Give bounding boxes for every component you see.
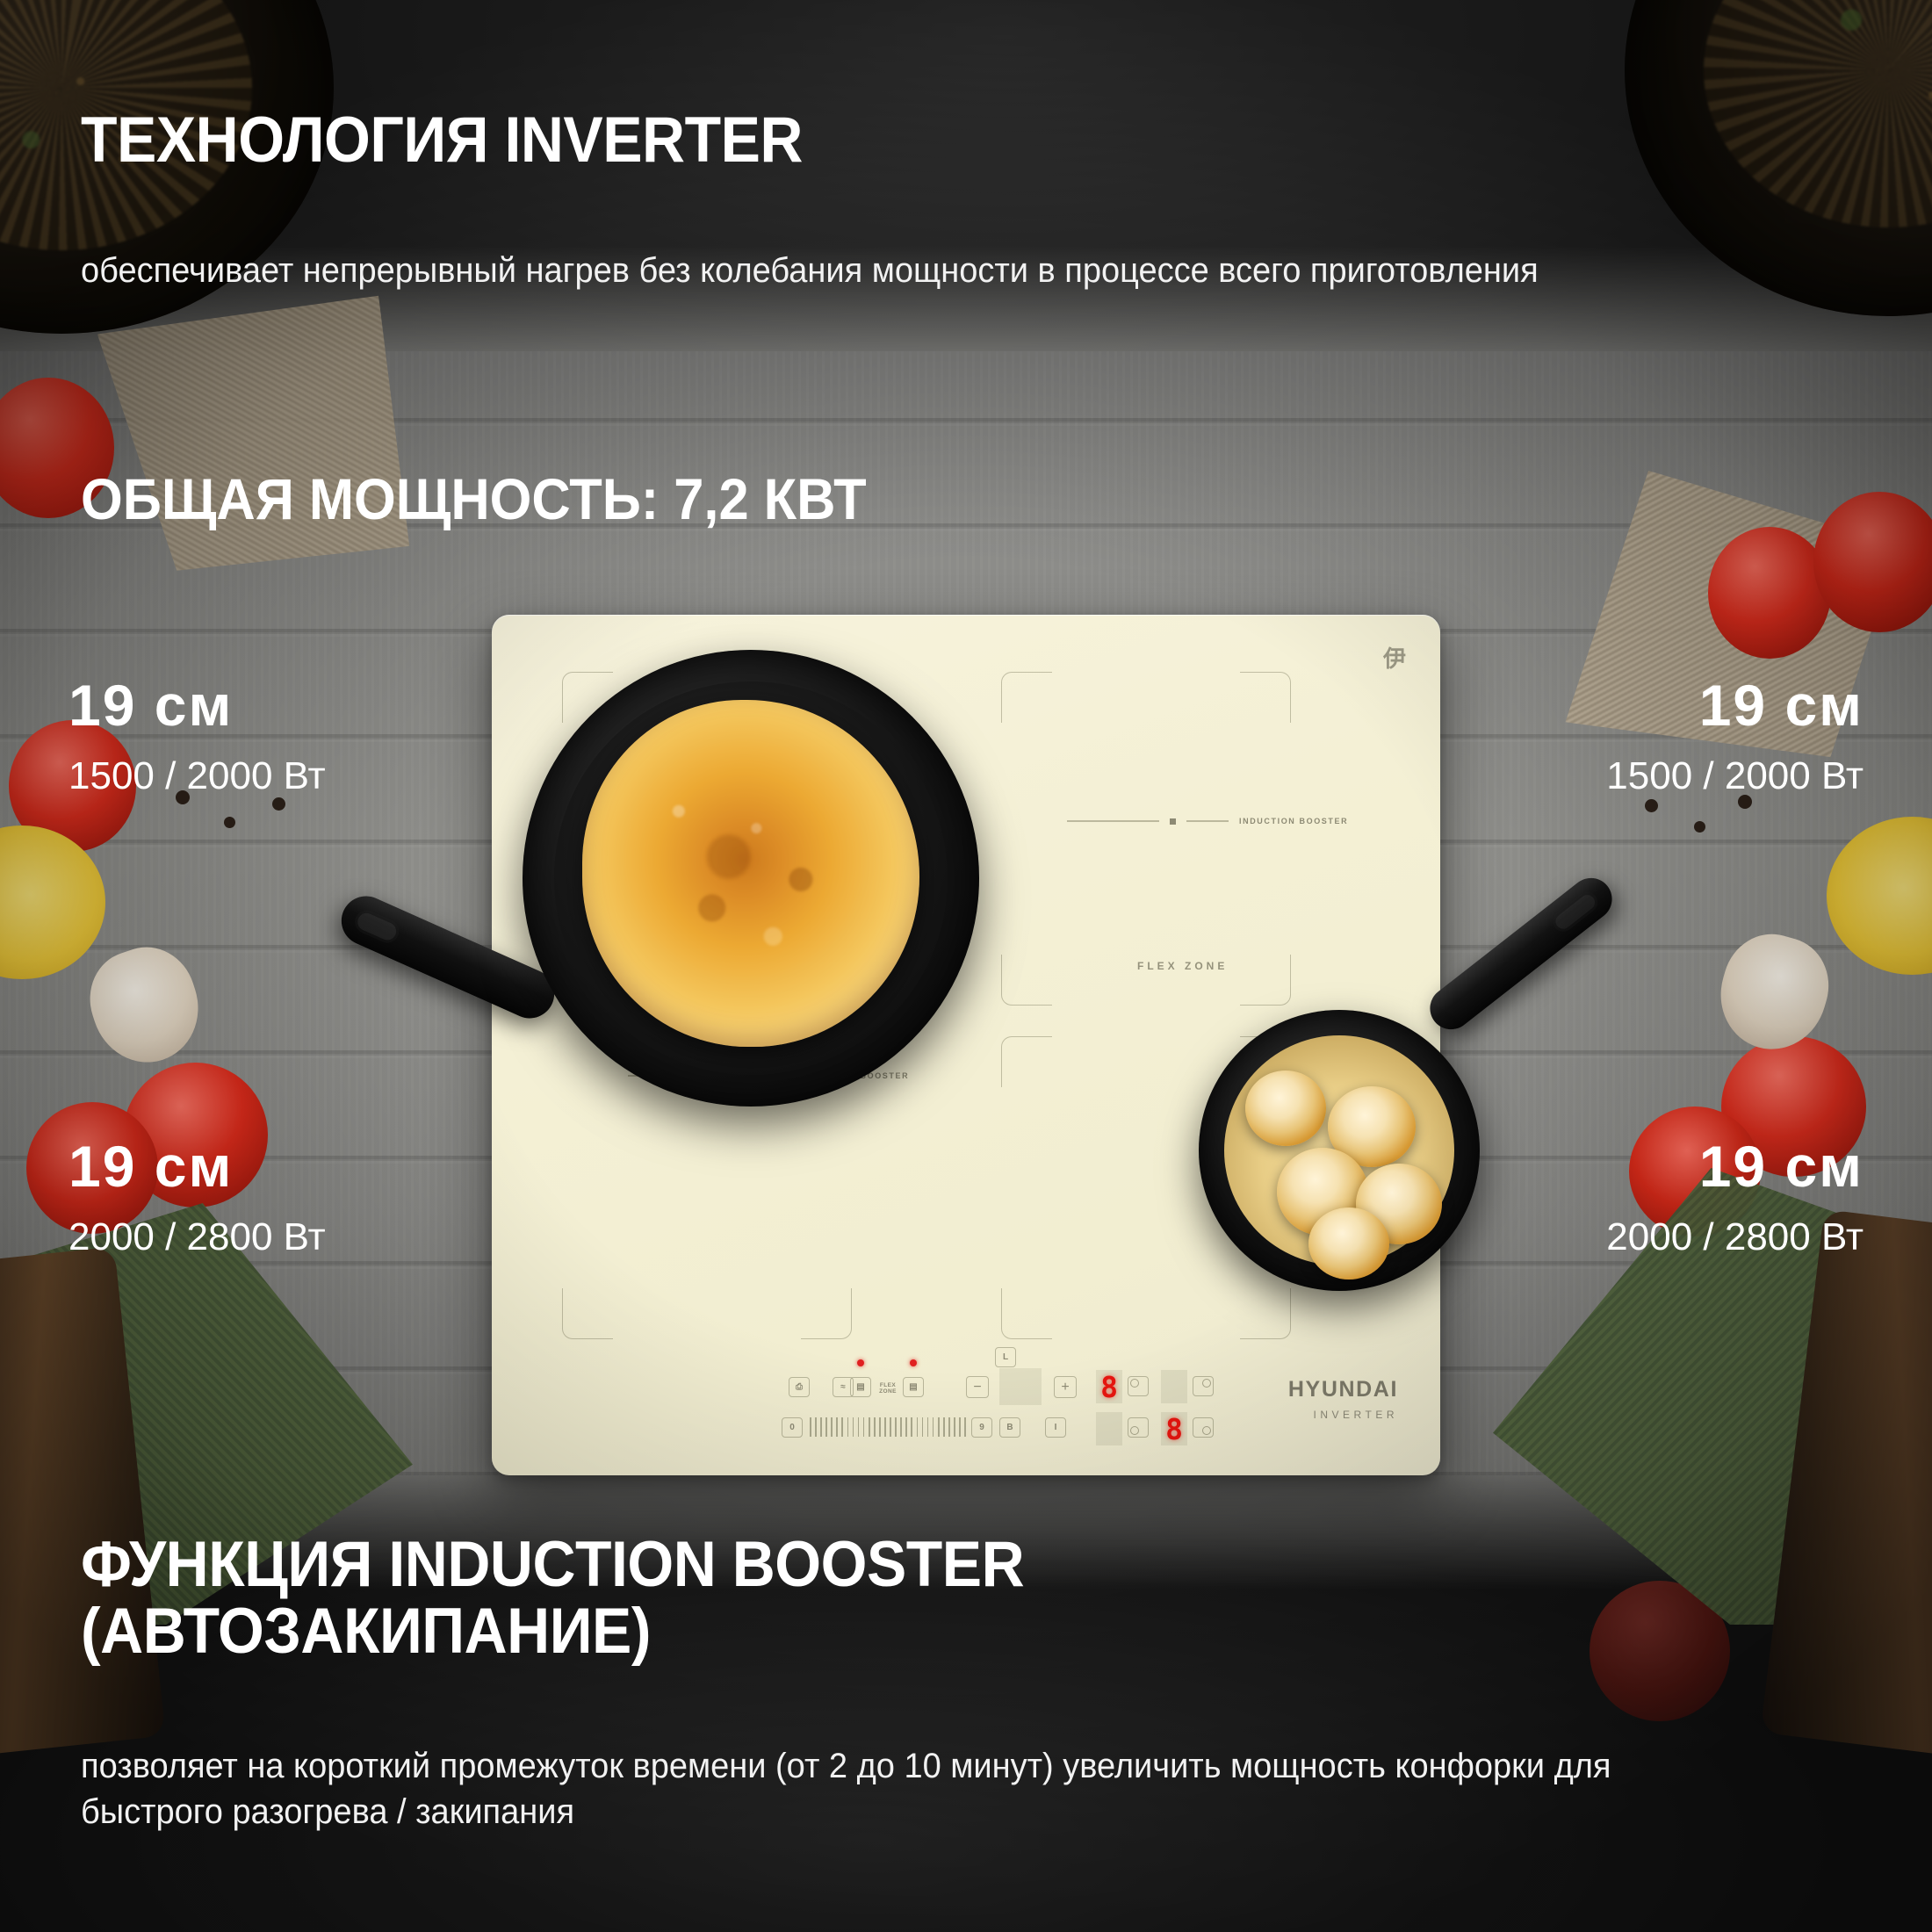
burner-size: 19 см (1606, 676, 1864, 734)
page-title: ТЕХНОЛОГИЯ INVERTER (81, 107, 803, 174)
burner-spec-top-right: 19 см 1500 / 2000 Вт (1606, 676, 1864, 796)
footer-title: ФУНКЦИЯ INDUCTION BOOSTER (АВТОЗАКИПАНИЕ… (81, 1532, 1306, 1665)
burner-spec-bottom-right: 19 см 2000 / 2800 Вт (1606, 1137, 1864, 1257)
burner-power: 2000 / 2800 Вт (68, 1218, 326, 1257)
text-content-layer: ТЕХНОЛОГИЯ INVERTER обеспечивает непреры… (0, 0, 1932, 1932)
burner-power: 2000 / 2800 Вт (1606, 1218, 1864, 1257)
burner-size: 19 см (68, 676, 326, 734)
burner-spec-bottom-left: 19 см 2000 / 2800 Вт (68, 1137, 326, 1257)
page-subtitle: обеспечивает непрерывный нагрев без коле… (81, 248, 1549, 293)
burner-power: 1500 / 2000 Вт (1606, 757, 1864, 796)
burner-spec-top-left: 19 см 1500 / 2000 Вт (68, 676, 326, 796)
poster-stage: 伊 INDUCTION BOOSTER INDUCTION BOOSTER FL… (0, 0, 1932, 1932)
burner-size: 19 см (68, 1137, 326, 1195)
footer-subtitle: позволяет на короткий промежуток времени… (81, 1743, 1716, 1835)
burner-size: 19 см (1606, 1137, 1864, 1195)
burner-power: 1500 / 2000 Вт (68, 757, 326, 796)
total-power-heading: ОБЩАЯ МОЩНОСТЬ: 7,2 кВт (81, 465, 867, 532)
